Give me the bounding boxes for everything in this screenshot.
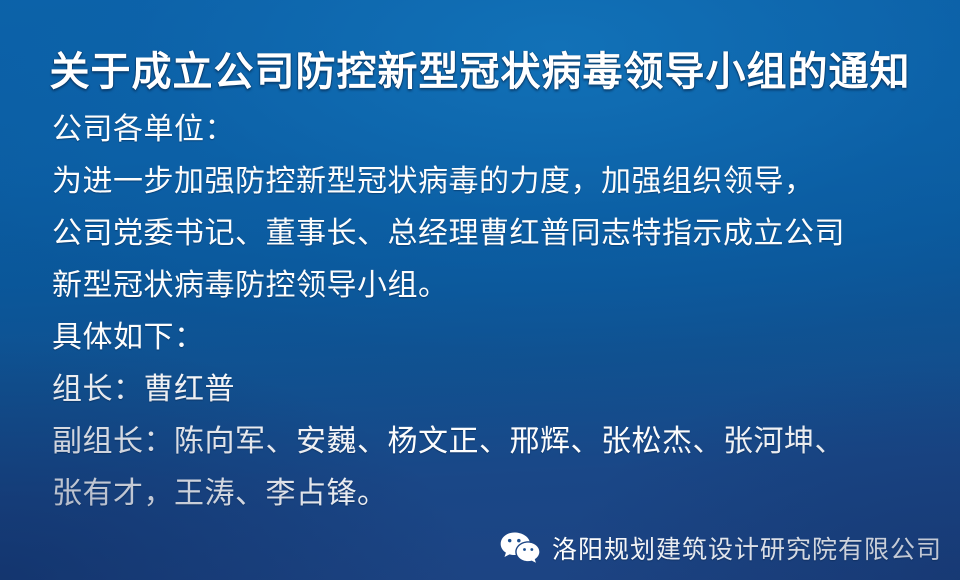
footer-company-name: 洛阳规划建筑设计研究院有限公司	[552, 530, 942, 566]
body-line: 公司党委书记、董事长、总经理曹红普同志特指示成立公司	[52, 208, 920, 260]
notice-slide: 关于成立公司防控新型冠状病毒领导小组的通知 公司各单位： 为进一步加强防控新型冠…	[0, 0, 960, 580]
footer: 洛阳规划建筑设计研究院有限公司	[0, 530, 942, 566]
body-line: 张有才，王涛、李占锋。	[52, 468, 920, 520]
body-line: 为进一步加强防控新型冠状病毒的力度，加强组织领导，	[52, 156, 920, 208]
body-line: 公司各单位：	[52, 104, 920, 156]
page-title: 关于成立公司防控新型冠状病毒领导小组的通知	[50, 49, 911, 95]
body-line: 新型冠状病毒防控领导小组。	[52, 260, 920, 312]
body-line: 具体如下：	[52, 312, 920, 364]
wechat-icon	[500, 531, 540, 565]
notice-body: 公司各单位： 为进一步加强防控新型冠状病毒的力度，加强组织领导， 公司党委书记、…	[52, 104, 920, 520]
body-line: 副组长：陈向军、安巍、杨文正、邢辉、张松杰、张河坤、	[52, 416, 920, 468]
body-line: 组长：曹红普	[52, 364, 920, 416]
